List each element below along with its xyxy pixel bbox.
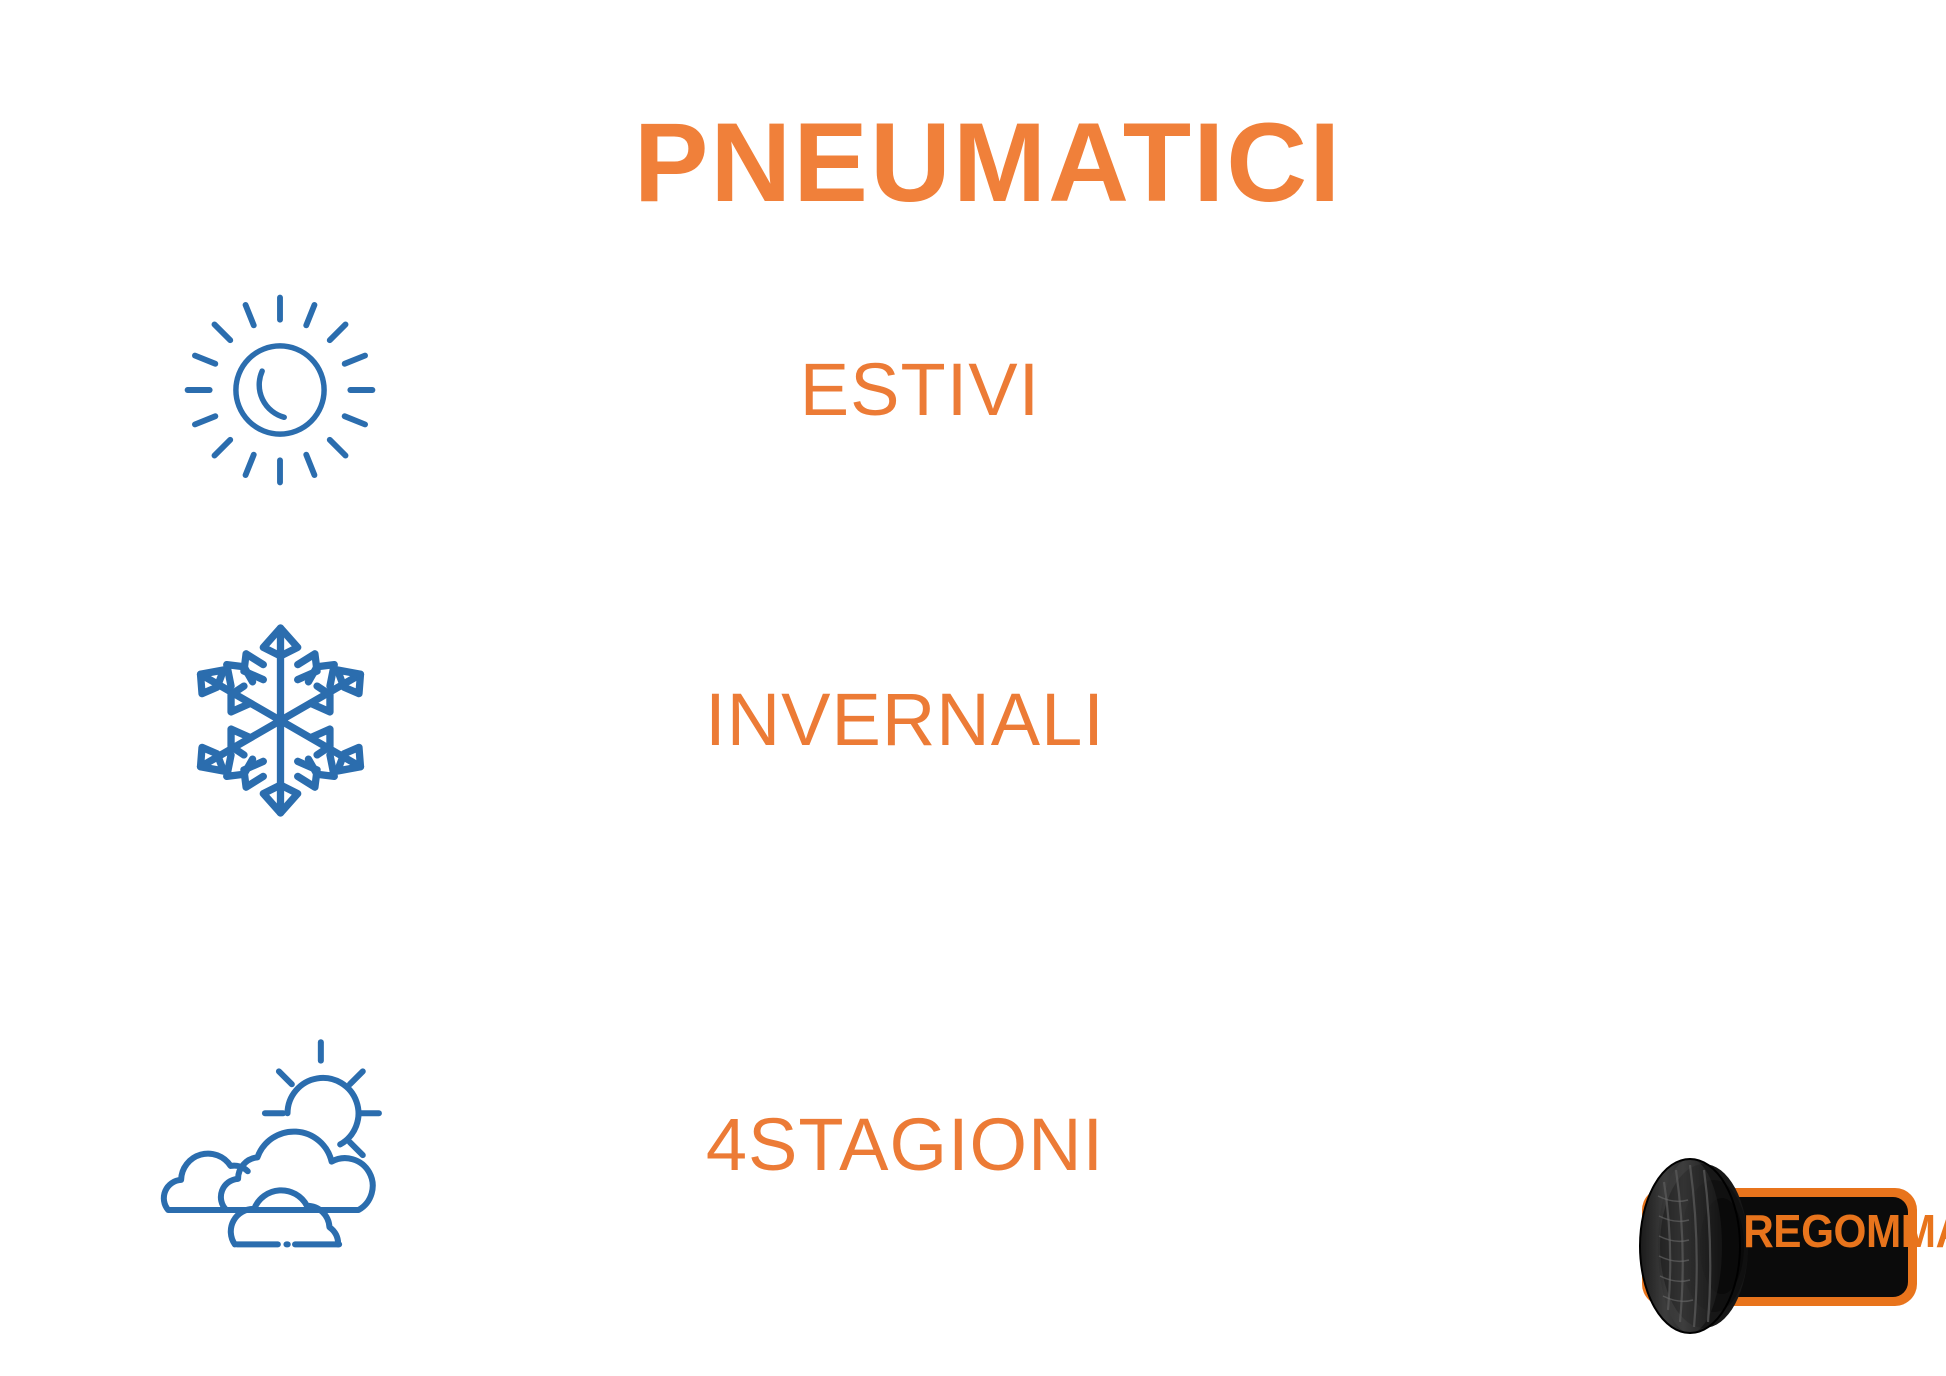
label-cell: ESTIVI (560, 353, 1400, 427)
sun-icon (0, 285, 560, 495)
list-item: 4STAGIONI (0, 1030, 1400, 1260)
page-title: PNEUMATICI (0, 104, 1946, 222)
sun-clouds-icon (0, 1038, 560, 1253)
list-item-label: ESTIVI (800, 353, 1040, 427)
regomma-logo: REGOMMA (1618, 1136, 1930, 1358)
list-item-label: 4STAGIONI (706, 1108, 1104, 1182)
snowflake-icon (0, 613, 560, 828)
slide-root: PNEUMATICI (0, 0, 1946, 1376)
list-item: INVERNALI (0, 605, 1400, 835)
list-item: ESTIVI (0, 275, 1400, 505)
label-cell: INVERNALI (560, 683, 1400, 757)
list-item-label: INVERNALI (705, 683, 1105, 757)
label-cell: 4STAGIONI (560, 1108, 1400, 1182)
